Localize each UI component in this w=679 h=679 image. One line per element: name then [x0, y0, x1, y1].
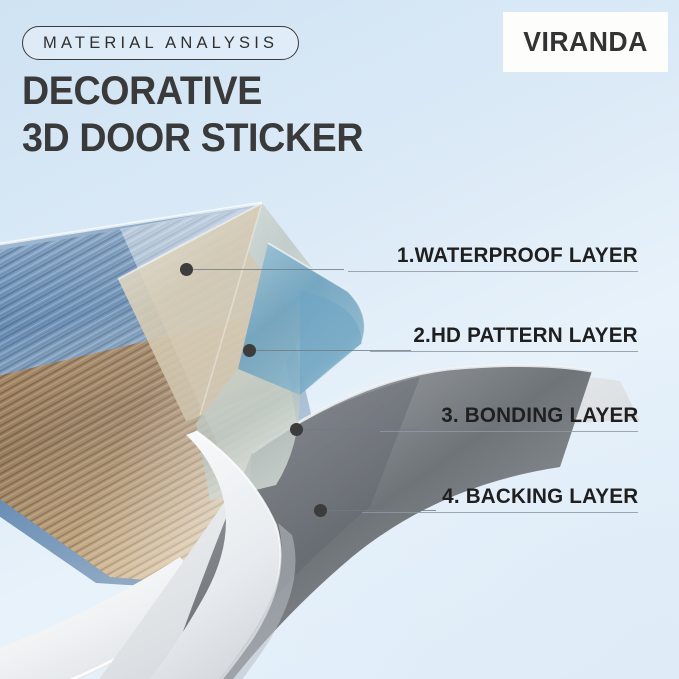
callout-rule-4: [362, 512, 638, 513]
anchor-dot-4: [314, 504, 327, 517]
callout-label-4: 4. BACKING LAYER: [442, 484, 638, 509]
callout-rule-2: [370, 351, 638, 352]
anchor-dot-1: [180, 263, 193, 276]
anchor-dot-3: [290, 423, 303, 436]
callout-bonding-layer: 3. BONDING LAYER: [380, 403, 638, 432]
anchor-dot-2: [243, 344, 256, 357]
title-line-2: 3D DOOR STICKER: [22, 115, 473, 162]
page-title: DECORATIVE 3D DOOR STICKER: [22, 68, 473, 162]
callout-label-3: 3. BONDING LAYER: [441, 403, 638, 428]
title-line-1: DECORATIVE: [22, 69, 262, 113]
callout-rule-3: [380, 431, 638, 432]
callout-rule-1: [348, 271, 638, 272]
leader-line-1: [192, 269, 344, 270]
callout-backing-layer: 4. BACKING LAYER: [362, 484, 638, 513]
badge-material-analysis: MATERIAL ANALYSIS: [22, 26, 299, 60]
brand-name: VIRANDA: [523, 26, 648, 58]
callout-waterproof-layer: 1.WATERPROOF LAYER: [348, 243, 638, 272]
callout-label-2: 2.HD PATTERN LAYER: [414, 323, 638, 348]
callout-label-1: 1.WATERPROOF LAYER: [397, 243, 638, 268]
brand-logo: VIRANDA: [503, 12, 668, 72]
poster-canvas: MATERIAL ANALYSIS DECORATIVE 3D DOOR STI…: [0, 0, 679, 679]
callout-hd-pattern-layer: 2.HD PATTERN LAYER: [370, 323, 638, 352]
badge-label: MATERIAL ANALYSIS: [43, 34, 278, 53]
